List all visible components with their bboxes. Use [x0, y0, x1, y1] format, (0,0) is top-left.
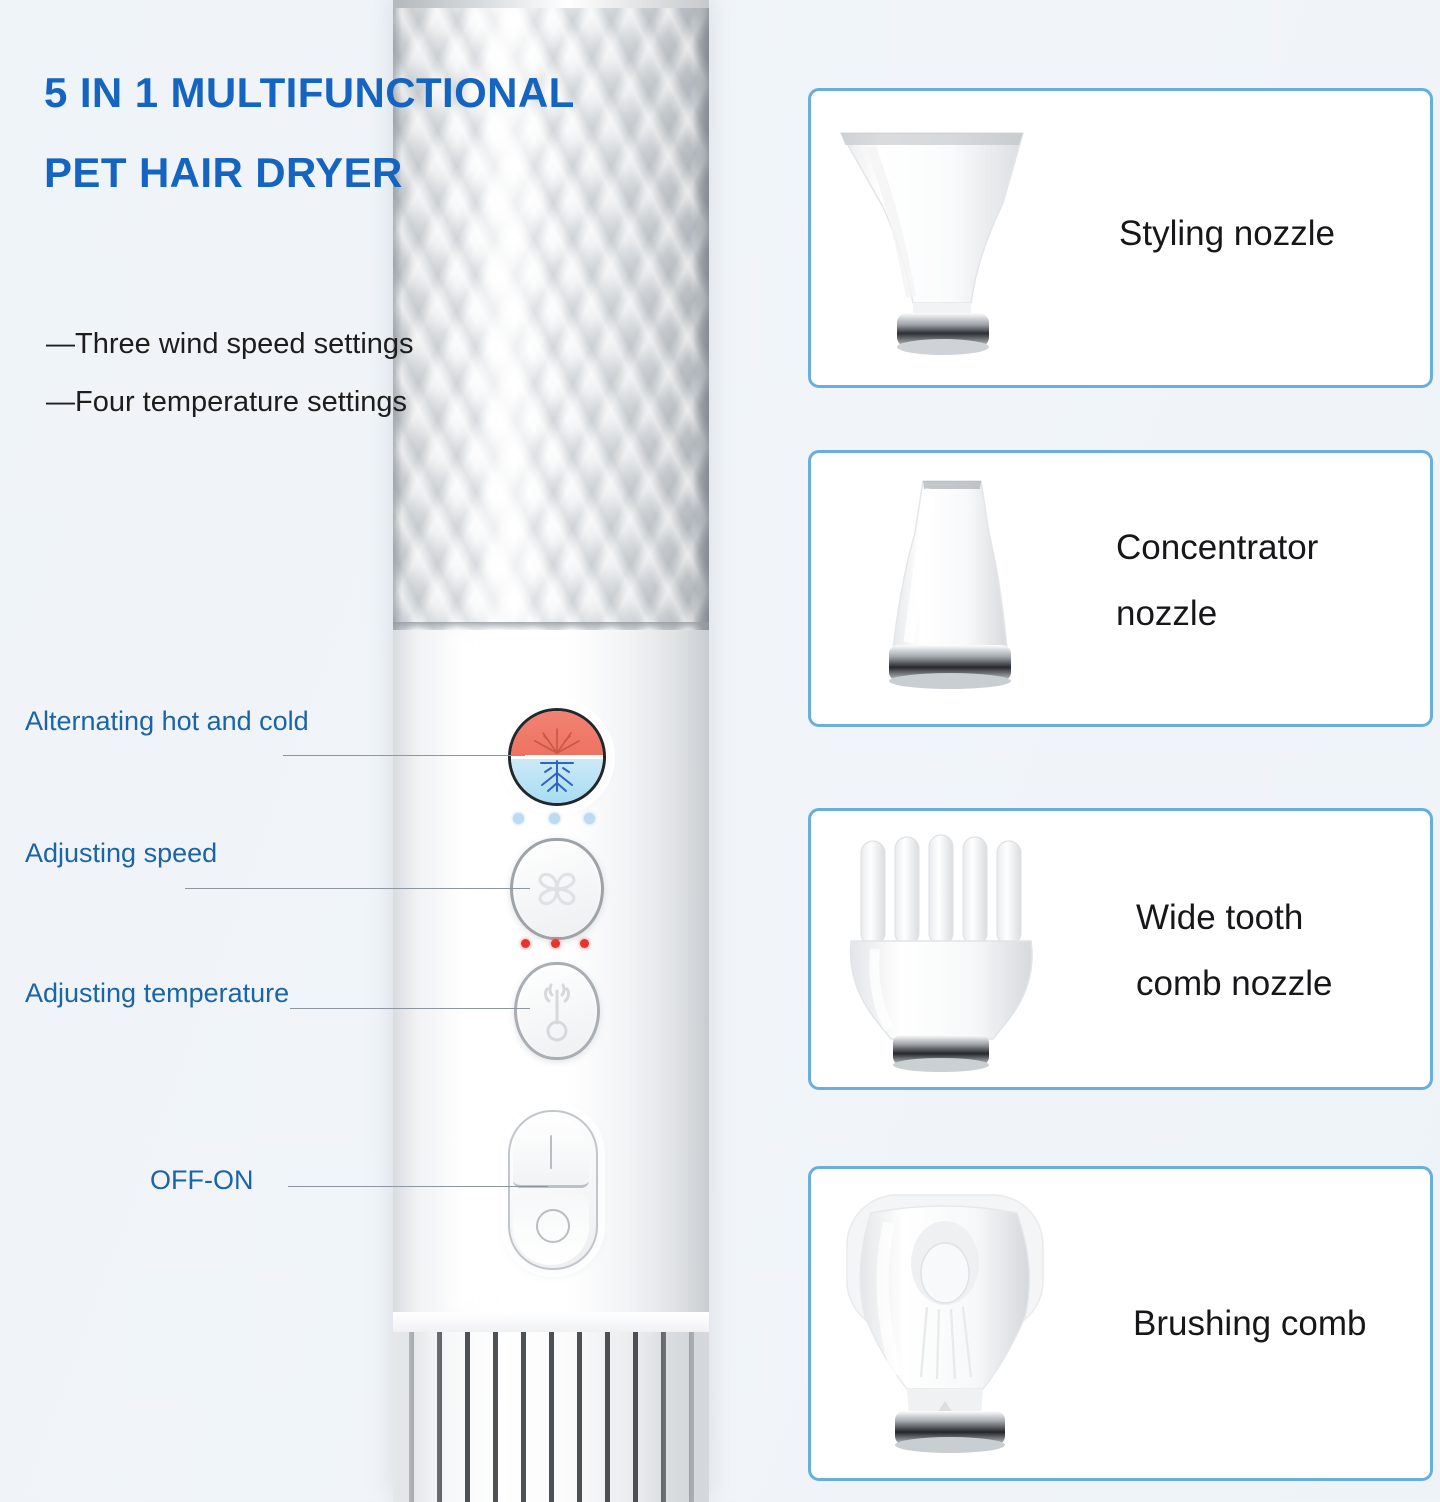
temperature-indicator-dots — [521, 938, 589, 948]
feature-list: —Three wind speed settings —Four tempera… — [46, 315, 414, 431]
concentrator-nozzle-icon — [849, 463, 1089, 721]
vent-right-shade — [649, 1332, 709, 1502]
wide-tooth-comb-nozzle-icon — [841, 823, 1091, 1085]
page-title: 5 IN 1 MULTIFUNCTIONAL PET HAIR DRYER — [44, 72, 744, 194]
title-line-1: 5 IN 1 MULTIFUNCTIONAL — [44, 69, 575, 116]
temperature-dot — [551, 939, 560, 948]
thermometer-icon — [517, 965, 597, 1057]
hot-cold-button[interactable] — [508, 708, 606, 806]
leader-line-power — [288, 1186, 548, 1187]
attachment-card-brushing-comb[interactable]: Brushing comb — [808, 1166, 1433, 1481]
callout-off-on: OFF-ON — [150, 1165, 253, 1196]
attachment-label: Styling nozzle — [1119, 201, 1335, 267]
power-on-symbol — [550, 1135, 553, 1169]
attachment-card-styling-nozzle[interactable]: Styling nozzle — [808, 88, 1433, 388]
fan-icon — [513, 841, 601, 937]
infographic-page: 5 IN 1 MULTIFUNCTIONAL PET HAIR DRYER —T… — [0, 0, 1440, 1500]
speed-button[interactable] — [510, 838, 604, 940]
barrel-seam — [393, 622, 709, 630]
speed-dot — [513, 813, 524, 824]
speed-indicator-dots — [513, 812, 595, 824]
speed-dot — [584, 813, 595, 824]
leader-line-hot-cold — [283, 755, 525, 756]
power-off-side[interactable] — [513, 1195, 589, 1265]
feature-item: —Three wind speed settings — [46, 315, 414, 373]
leader-line-temperature — [290, 1008, 530, 1009]
vent-top-edge — [393, 1312, 709, 1332]
power-on-side[interactable] — [513, 1115, 589, 1188]
attachment-card-wide-tooth-comb-nozzle[interactable]: Wide tooth comb nozzle — [808, 808, 1433, 1090]
attachment-label: Wide tooth comb nozzle — [1136, 885, 1332, 1017]
attachment-label: Concentrator nozzle — [1116, 515, 1318, 647]
attachment-label: Brushing comb — [1133, 1291, 1366, 1357]
callout-adjusting-temperature: Adjusting temperature — [25, 978, 289, 1009]
control-body-highlight — [435, 630, 495, 1314]
leader-line-speed — [185, 888, 530, 889]
styling-nozzle-icon — [827, 107, 1107, 375]
brushing-comb-icon — [831, 1183, 1111, 1473]
callout-adjusting-speed: Adjusting speed — [25, 838, 217, 869]
temperature-dot — [521, 939, 530, 948]
temperature-button[interactable] — [514, 962, 600, 1060]
barrel-top-cap — [393, 0, 709, 8]
speed-dot — [549, 813, 560, 824]
attachment-card-concentrator-nozzle[interactable]: Concentrator nozzle — [808, 450, 1433, 727]
vent-left-shade — [393, 1332, 449, 1502]
callout-alternating-hot-and-cold: Alternating hot and cold — [25, 706, 309, 737]
power-off-symbol — [536, 1209, 570, 1243]
feature-item: —Four temperature settings — [46, 373, 414, 431]
dryer-air-vent — [393, 1312, 709, 1502]
power-switch[interactable] — [508, 1110, 598, 1270]
title-line-2: PET HAIR DRYER — [44, 152, 744, 194]
temperature-dot — [580, 939, 589, 948]
